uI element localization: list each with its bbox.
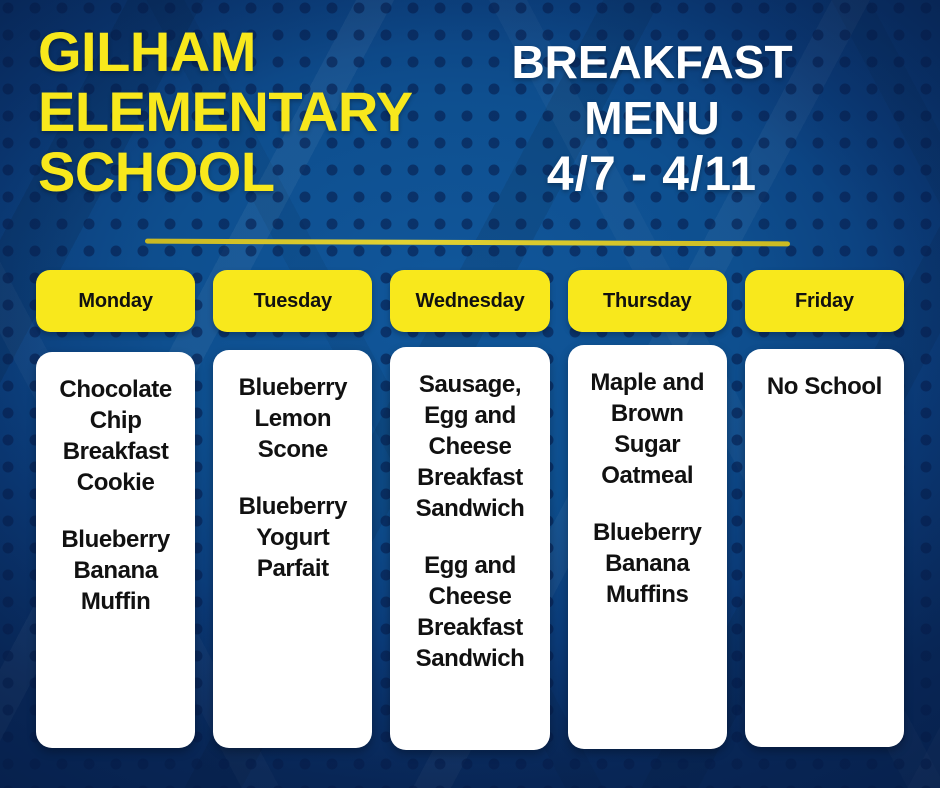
menu-item: Blueberry Banana Muffins: [576, 517, 719, 610]
day-column-monday: MondayChocolate Chip Breakfast CookieBlu…: [36, 270, 195, 748]
menu-item-list: No School: [753, 371, 896, 402]
day-header-pill-thursday[interactable]: Thursday: [568, 270, 727, 332]
day-menu-card-wednesday: Sausage, Egg and Cheese Breakfast Sandwi…: [390, 347, 549, 750]
day-header-pill-wednesday[interactable]: Wednesday: [390, 270, 549, 332]
menu-item: Maple and Brown Sugar Oatmeal: [576, 367, 719, 491]
poster-content: GILHAM ELEMENTARY SCHOOL BREAKFAST MENU …: [0, 0, 940, 788]
school-name-heading: GILHAM ELEMENTARY SCHOOL: [38, 22, 438, 202]
day-column-tuesday: TuesdayBlueberry Lemon SconeBlueberry Yo…: [213, 270, 372, 748]
breakfast-menu-poster: GILHAM ELEMENTARY SCHOOL BREAKFAST MENU …: [0, 0, 940, 788]
day-menu-card-friday: No School: [745, 349, 904, 747]
week-grid: MondayChocolate Chip Breakfast CookieBlu…: [36, 270, 904, 750]
day-header-pill-monday[interactable]: Monday: [36, 270, 195, 332]
menu-item: Blueberry Yogurt Parfait: [221, 491, 364, 584]
menu-item: Blueberry Banana Muffin: [44, 524, 187, 617]
day-menu-card-monday: Chocolate Chip Breakfast CookieBlueberry…: [36, 352, 195, 748]
menu-item-list: Blueberry Lemon SconeBlueberry Yogurt Pa…: [221, 372, 364, 584]
menu-item: Chocolate Chip Breakfast Cookie: [44, 374, 187, 498]
menu-item: Blueberry Lemon Scone: [221, 372, 364, 465]
menu-item: Sausage, Egg and Cheese Breakfast Sandwi…: [398, 369, 541, 524]
menu-item-list: Maple and Brown Sugar OatmealBlueberry B…: [576, 367, 719, 610]
day-column-friday: FridayNo School: [745, 270, 904, 747]
menu-item: Egg and Cheese Breakfast Sandwich: [398, 550, 541, 674]
day-menu-card-thursday: Maple and Brown Sugar OatmealBlueberry B…: [568, 345, 727, 749]
day-header-pill-friday[interactable]: Friday: [745, 270, 904, 332]
menu-item-list: Sausage, Egg and Cheese Breakfast Sandwi…: [398, 369, 541, 674]
menu-title-text: BREAKFAST MENU: [511, 36, 792, 144]
menu-item: No School: [753, 371, 896, 402]
menu-item-list: Chocolate Chip Breakfast CookieBlueberry…: [44, 374, 187, 617]
menu-date-range: 4/7 - 4/11: [452, 146, 852, 204]
day-column-wednesday: WednesdaySausage, Egg and Cheese Breakfa…: [390, 270, 549, 750]
header-divider-line: [145, 239, 790, 247]
poster-header: GILHAM ELEMENTARY SCHOOL BREAKFAST MENU …: [0, 0, 940, 250]
day-menu-card-tuesday: Blueberry Lemon SconeBlueberry Yogurt Pa…: [213, 350, 372, 748]
menu-title-block: BREAKFAST MENU 4/7 - 4/11: [452, 34, 852, 204]
day-header-pill-tuesday[interactable]: Tuesday: [213, 270, 372, 332]
day-column-thursday: ThursdayMaple and Brown Sugar OatmealBlu…: [568, 270, 727, 749]
